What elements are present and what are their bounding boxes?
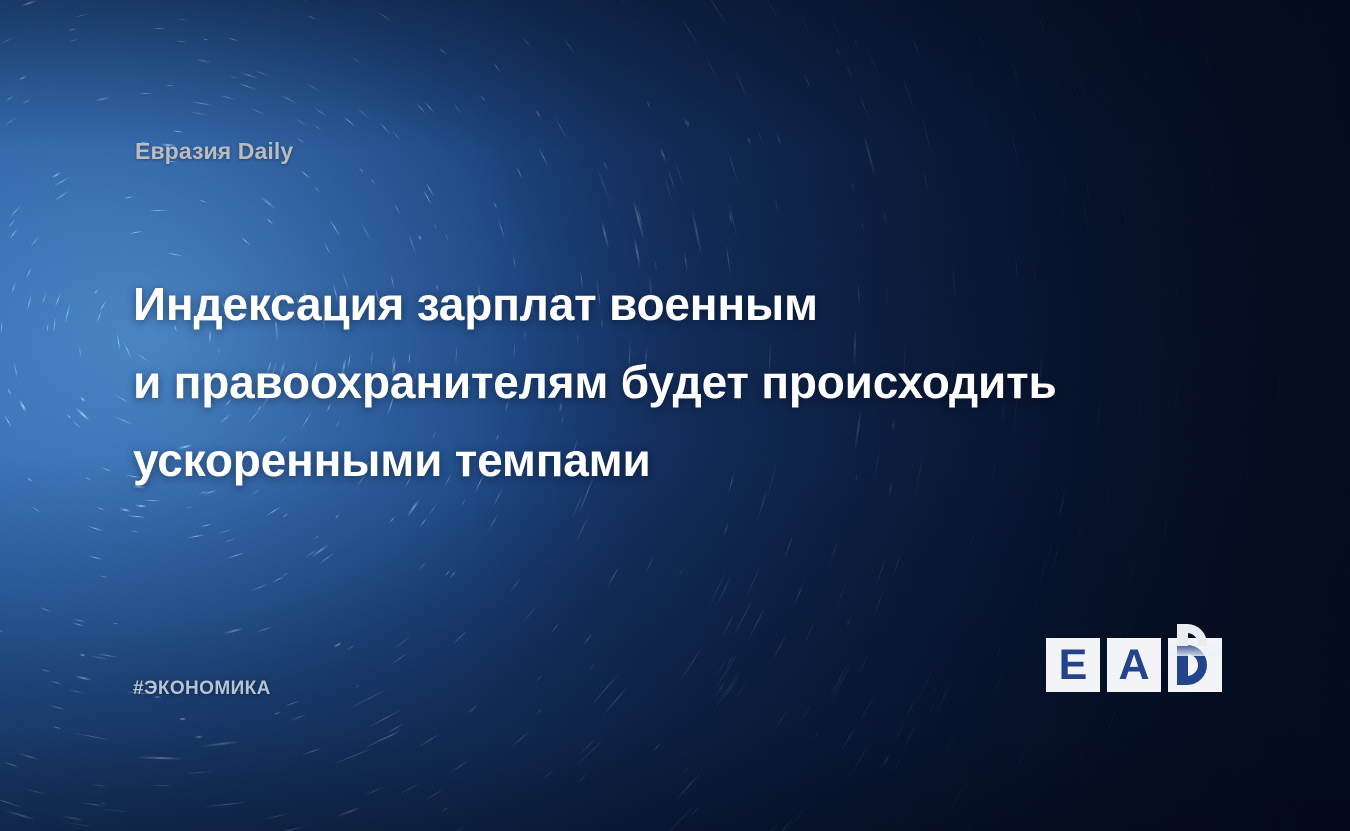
social-share-card: Евразия Daily Индексация зарплат военным…: [0, 0, 1350, 831]
brand-name: Евразия Daily: [135, 138, 293, 165]
headline-line-2: и правоохранителям будет происходить: [133, 343, 1243, 421]
category-tag[interactable]: #ЭКОНОМИКА: [133, 678, 271, 700]
headline-line-3: ускоренными темпами: [133, 421, 1243, 499]
headline: Индексация зарплат военным и правоохрани…: [133, 265, 1243, 499]
card-content: Евразия Daily Индексация зарплат военным…: [0, 0, 1350, 831]
logo-tile-d-upper: [1168, 620, 1222, 656]
eadaily-logo[interactable]: E A: [1046, 620, 1222, 692]
logo-tile-e: E: [1046, 638, 1100, 692]
logo-tile-a: A: [1107, 638, 1161, 692]
headline-line-1: Индексация зарплат военным: [133, 265, 1243, 343]
